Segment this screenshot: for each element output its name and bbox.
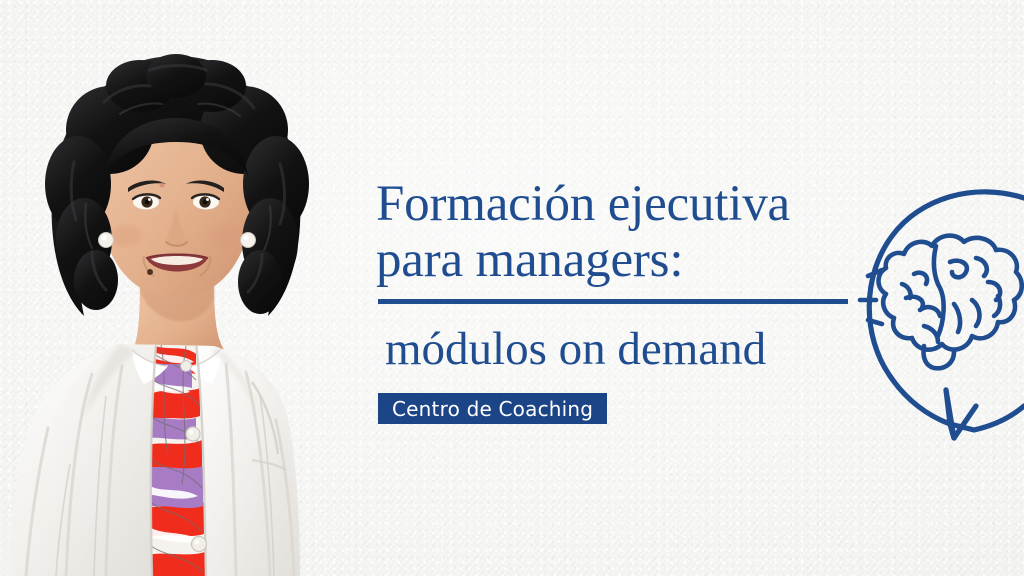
divider-rule	[378, 299, 848, 304]
headline: Formación ejecutiva para managers:	[376, 176, 846, 288]
headline-line-2: para managers:	[376, 232, 846, 288]
brand-badge-label: Centro de Coaching	[392, 399, 593, 419]
headline-line-1: Formación ejecutiva	[376, 176, 846, 232]
subheadline: módulos on demand	[385, 323, 766, 375]
brand-badge: Centro de Coaching	[378, 393, 607, 424]
portrait-photo	[0, 44, 360, 576]
brain-speech-bubble-icon	[824, 176, 1024, 458]
promo-banner: Formación ejecutiva para managers: módul…	[0, 0, 1024, 576]
